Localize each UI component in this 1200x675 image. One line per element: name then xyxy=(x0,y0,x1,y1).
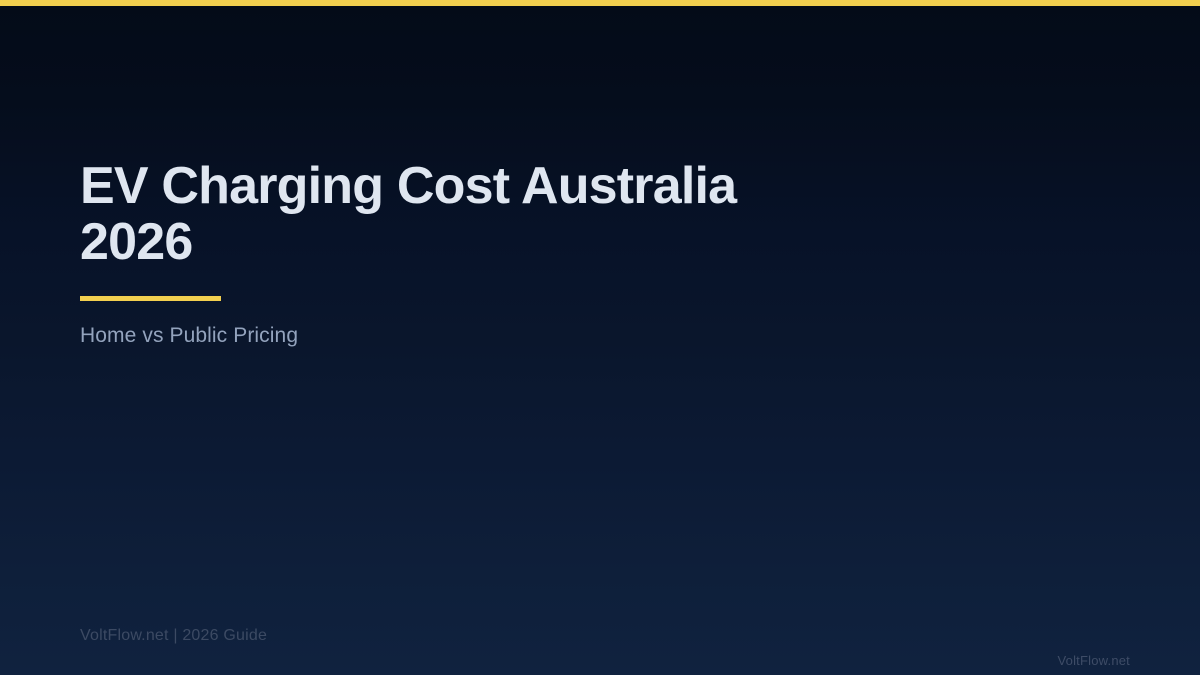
page-title: EV Charging Cost Australia 2026 xyxy=(80,158,780,270)
top-accent-bar xyxy=(0,0,1200,6)
page-subtitle: Home vs Public Pricing xyxy=(80,323,780,349)
title-accent-rule xyxy=(80,296,221,301)
watermark: VoltFlow.net xyxy=(1058,653,1131,669)
title-block: EV Charging Cost Australia 2026 Home vs … xyxy=(80,158,780,349)
title-slide: EV Charging Cost Australia 2026 Home vs … xyxy=(0,0,1200,675)
footer-credit: VoltFlow.net | 2026 Guide xyxy=(80,626,267,646)
